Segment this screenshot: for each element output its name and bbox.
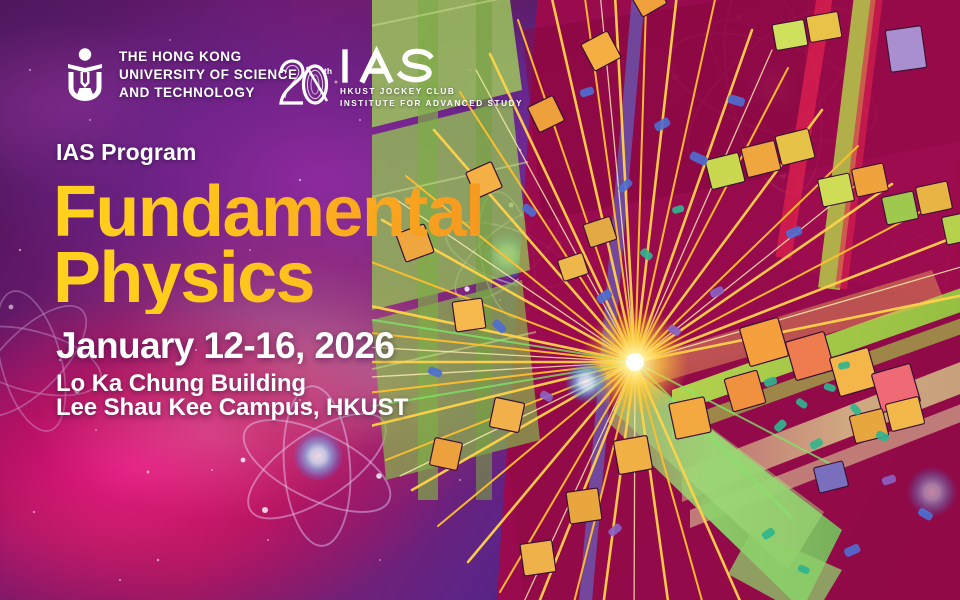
svg-text:th: th (324, 66, 332, 76)
ias-logo: th HKUST JOCKEY CLUB I (277, 46, 523, 109)
event-date: January 12-16, 2026 (56, 325, 394, 367)
hkust-logo: THE HONG KONG UNIVERSITY OF SCIENCE AND … (62, 47, 298, 103)
ias-sublabel: HKUST JOCKEY CLUB INSTITUTE FOR ADVANCED… (340, 86, 523, 109)
hkust-wordmark: THE HONG KONG UNIVERSITY OF SCIENCE AND … (119, 48, 298, 102)
hkust-emblem-icon (62, 47, 108, 103)
ias-sublabel-line-1: HKUST JOCKEY CLUB (340, 86, 523, 98)
ias-sublabel-line-2: INSTITUTE FOR ADVANCED STUDY (340, 98, 523, 110)
hkust-wordmark-line-3: AND TECHNOLOGY (119, 84, 298, 102)
poster-banner: IAS Program Fundamental Physics January … (0, 0, 960, 600)
hkust-wordmark-line-1: THE HONG KONG (119, 48, 298, 66)
logo-bar: THE HONG KONG UNIVERSITY OF SCIENCE AND … (0, 0, 960, 130)
program-label: IAS Program (56, 139, 196, 166)
ias-right-block: HKUST JOCKEY CLUB INSTITUTE FOR ADVANCED… (340, 46, 523, 109)
venue-line-2: Lee Shau Kee Campus, HKUST (56, 394, 408, 422)
ias-20th-anniversary-icon: th (277, 57, 335, 109)
poster-title-line-2: Physics (53, 242, 314, 314)
hkust-wordmark-line-2: UNIVERSITY OF SCIENCE (119, 66, 298, 84)
ias-mark-icon (340, 46, 523, 84)
